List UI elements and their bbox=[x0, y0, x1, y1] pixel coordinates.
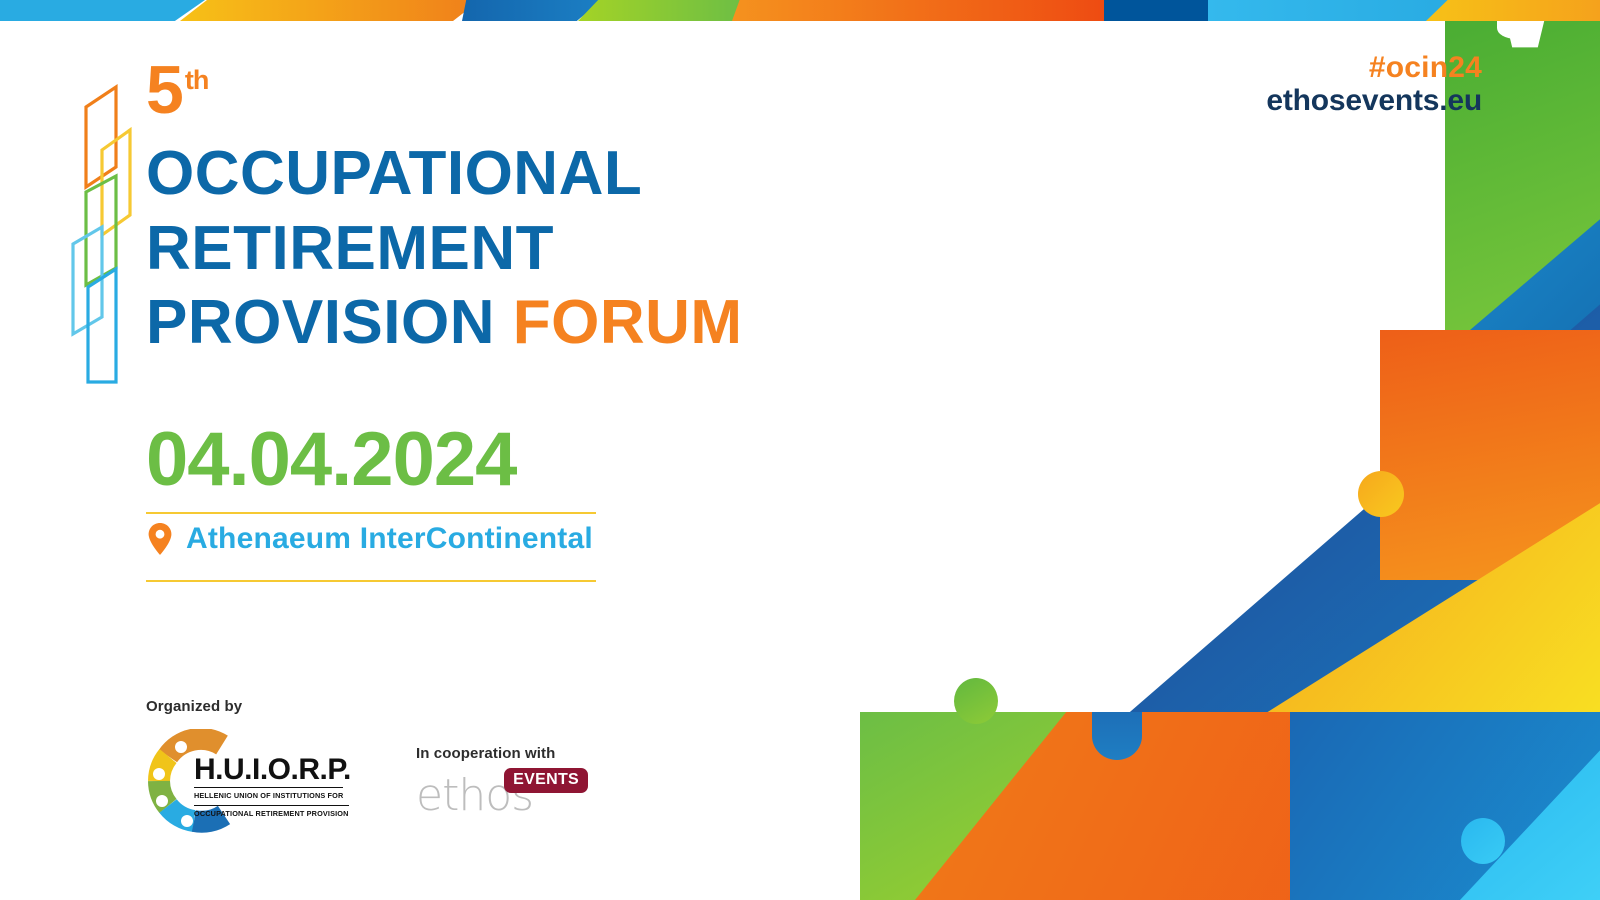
tagline-block: #ocin24 ethosevents.eu bbox=[1266, 52, 1482, 117]
puzzle-knob-cyan bbox=[1461, 818, 1505, 864]
huiorp-subtitle-line-1: HELLENIC UNION OF INSTITUTIONS FOR bbox=[194, 791, 343, 800]
edition-suffix: th bbox=[185, 65, 208, 95]
title-line-3-main: PROVISION bbox=[146, 288, 495, 357]
huiorp-wordmark: H.U.I.O.R.P. HELLENIC UNION OF INSTITUTI… bbox=[194, 755, 354, 821]
huiorp-logo[interactable]: H.U.I.O.R.P. HELLENIC UNION OF INSTITUTI… bbox=[146, 729, 351, 834]
edition-ordinal: 5th bbox=[146, 60, 1046, 121]
huiorp-acronym: H.U.I.O.R.P. bbox=[194, 753, 351, 786]
huiorp-subtitle-line-2: OCCUPATIONAL RETIREMENT PROVISION bbox=[194, 809, 349, 818]
edition-number: 5 bbox=[146, 52, 183, 128]
event-hashtag[interactable]: #ocin24 bbox=[1266, 52, 1482, 84]
puzzle-knob-blue-on-orange bbox=[1092, 712, 1142, 760]
parallelogram-chain-ornament bbox=[68, 72, 148, 402]
events-badge: EVENTS bbox=[504, 768, 588, 793]
top-bar-segment-sky bbox=[1208, 0, 1456, 21]
venue-name: Athenaeum InterContinental bbox=[186, 522, 593, 556]
title-line-1: OCCUPATIONAL bbox=[146, 137, 1046, 211]
title-line-3-accent: FORUM bbox=[513, 288, 743, 357]
title-line-2: RETIREMENT bbox=[146, 212, 1046, 286]
top-bar-segment-yellow-orange bbox=[180, 0, 480, 21]
event-date: 04.04.2024 bbox=[146, 422, 1046, 498]
top-bar-segment-dark-blue bbox=[1104, 0, 1210, 21]
title-line-3: PROVISION FORUM bbox=[146, 286, 1046, 360]
ethos-events-logo[interactable]: ethos EVENTS bbox=[416, 774, 586, 818]
huiorp-subtitle: HELLENIC UNION OF INSTITUTIONS FOR OCCUP… bbox=[194, 787, 349, 818]
top-color-bar bbox=[0, 0, 1600, 21]
location-pin-icon bbox=[148, 523, 172, 555]
headline-block: 5th OCCUPATIONAL RETIREMENT PROVISION FO… bbox=[146, 60, 1046, 582]
divider-bottom bbox=[146, 580, 596, 582]
event-website[interactable]: ethosevents.eu bbox=[1266, 84, 1482, 117]
page-title: OCCUPATIONAL RETIREMENT PROVISION FORUM bbox=[146, 137, 1046, 360]
venue-row: Athenaeum InterContinental bbox=[146, 514, 1046, 566]
cooperation-label: In cooperation with bbox=[416, 745, 586, 762]
organizer-block: Organized by H.U bbox=[146, 698, 351, 834]
top-bar-segment-green bbox=[578, 0, 746, 21]
organized-by-label: Organized by bbox=[146, 698, 351, 715]
top-bar-segment-light-blue bbox=[0, 0, 205, 21]
top-bar-segment-gold bbox=[1426, 0, 1600, 21]
puzzle-knob-yellow bbox=[1358, 471, 1404, 517]
cooperation-block: In cooperation with ethos EVENTS bbox=[416, 745, 586, 818]
top-bar-segment-blue bbox=[462, 0, 602, 21]
top-bar-segment-orange-red bbox=[732, 0, 1112, 21]
puzzle-knob-green-base bbox=[954, 678, 998, 724]
event-banner: #ocin24 ethosevents.eu 5th OCCUPATIONAL … bbox=[0, 0, 1600, 900]
